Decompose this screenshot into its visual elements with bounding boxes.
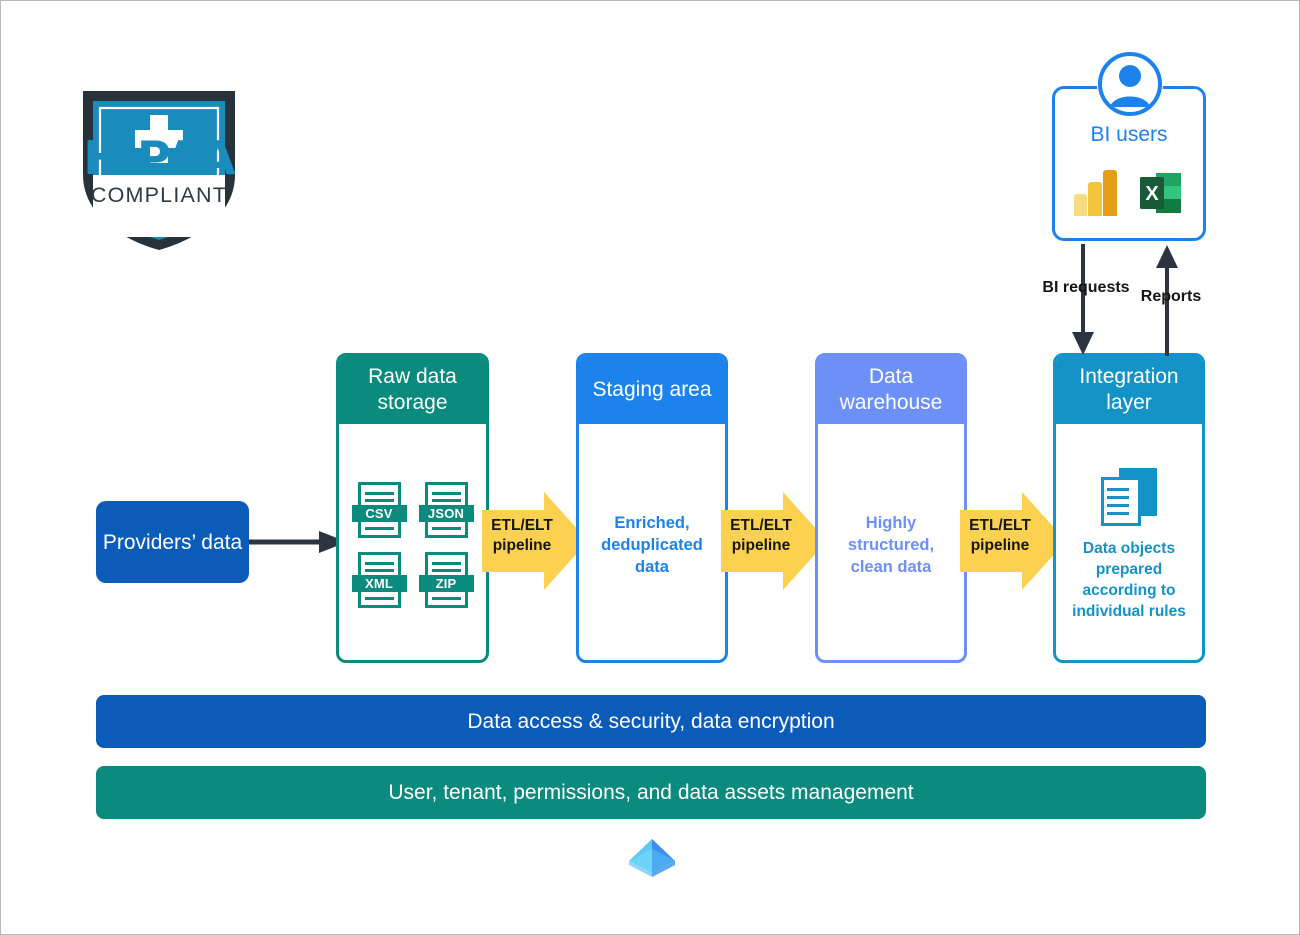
stage-body-staging-area: Enriched, deduplicated data (579, 424, 725, 663)
integration-layer-text: Data objects prepared according to indiv… (1064, 538, 1194, 622)
stage-title-raw-data-storage: Raw data storage (339, 356, 486, 424)
bi-tool-icons: X (1052, 165, 1206, 221)
etl-pipeline-arrow-3: ETL/ELT pipeline (960, 488, 1066, 594)
file-type-grid: CSV JSON XML ZIP (352, 482, 474, 608)
stage-title-integration-layer: Integration layer (1056, 356, 1202, 424)
stage-body-raw-data-storage: CSV JSON XML ZIP (339, 424, 486, 663)
power-bi-icon (1074, 170, 1118, 216)
user-tenant-management-bar[interactable]: User, tenant, permissions, and data asse… (96, 766, 1206, 819)
file-zip-label: ZIP (419, 575, 474, 592)
providers-data-box[interactable]: Providers’ data (96, 501, 249, 583)
stage-body-data-warehouse: Highly structured, clean data (818, 424, 964, 663)
providers-data-label: Providers’ data (103, 529, 242, 556)
diagram-canvas: HIPAA COMPLIANT Providers’ data Raw data… (0, 0, 1300, 935)
etl-pipeline-label-2: ETL/ELT pipeline (723, 516, 799, 556)
hipaa-compliant-badge: HIPAA COMPLIANT (69, 79, 249, 254)
stage-staging-area[interactable]: Staging area Enriched, deduplicated data (576, 353, 728, 663)
stage-data-warehouse[interactable]: Data warehouse Highly structured, clean … (815, 353, 967, 663)
stage-body-integration-layer: Data objects prepared according to indiv… (1056, 424, 1202, 663)
arrow-right-icon (249, 528, 349, 556)
file-json-label: JSON (419, 505, 474, 522)
etl-pipeline-arrow-1: ETL/ELT pipeline (482, 488, 588, 594)
stage-title-staging-area: Staging area (579, 356, 725, 424)
documents-icon (1101, 468, 1157, 526)
user-tenant-management-label: User, tenant, permissions, and data asse… (388, 781, 913, 805)
etl-pipeline-label-3: ETL/ELT pipeline (962, 516, 1038, 556)
file-xml-icon: XML (352, 552, 407, 608)
user-avatar-icon (1097, 51, 1163, 117)
file-csv-icon: CSV (352, 482, 407, 538)
etl-pipeline-label-1: ETL/ELT pipeline (484, 516, 560, 556)
arrow-down-icon (1069, 244, 1097, 356)
stage-title-data-warehouse: Data warehouse (818, 356, 964, 424)
shield-icon (69, 79, 249, 254)
etl-pipeline-arrow-2: ETL/ELT pipeline (721, 488, 827, 594)
file-zip-icon: ZIP (419, 552, 474, 608)
file-csv-label: CSV (352, 505, 407, 522)
file-xml-label: XML (352, 575, 407, 592)
diamond-logo-icon (625, 835, 679, 883)
svg-text:X: X (1145, 183, 1159, 205)
file-json-icon: JSON (419, 482, 474, 538)
data-access-security-label: Data access & security, data encryption (467, 710, 834, 734)
bi-users-label: BI users (1052, 123, 1206, 147)
reports-label: Reports (1123, 286, 1219, 307)
data-access-security-bar[interactable]: Data access & security, data encryption (96, 695, 1206, 748)
excel-icon: X (1138, 170, 1184, 216)
stage-integration-layer[interactable]: Integration layer Data objects prepared … (1053, 353, 1205, 663)
stage-raw-data-storage[interactable]: Raw data storage CSV JSON XML ZIP (336, 353, 489, 663)
